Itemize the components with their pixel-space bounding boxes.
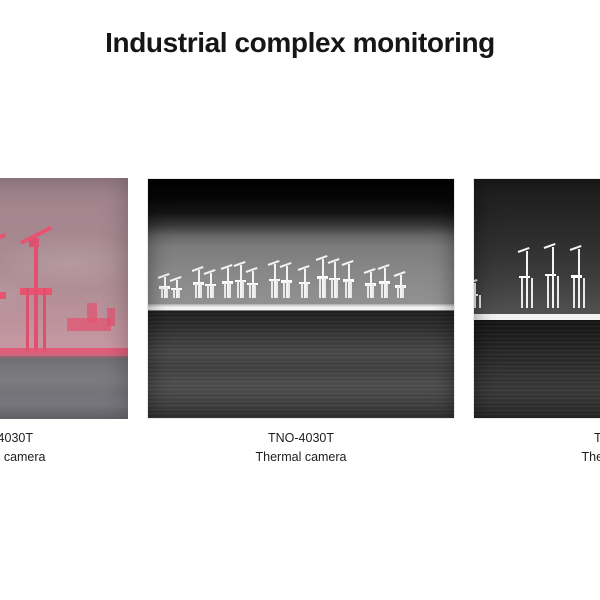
carousel-slide-left[interactable] [0,178,128,419]
dock-structure [87,303,97,323]
page-root: Industrial complex monitoring [0,0,600,600]
page-title: Industrial complex monitoring [0,26,600,60]
crane-skyline [148,263,454,308]
caption-kind: Thermal camera [175,448,427,467]
dock-line [148,307,454,310]
port-crane [23,238,49,351]
carousel-slide-center[interactable] [147,178,455,419]
sea-region [148,309,454,418]
dock-line [0,348,128,358]
sea-region [474,318,600,418]
slide-caption-left: TNO-4030T Thermal camera [0,429,126,467]
slide-caption-right: TNO-4030T Thermal camera [501,429,600,467]
image-carousel[interactable] [0,178,600,419]
dock-line [474,314,600,320]
sea-region [0,356,128,419]
crane-skyline [474,251,600,318]
caption-model: TNO-4030T [501,429,600,448]
port-crane [0,246,3,352]
thermal-photo-pink [0,178,128,419]
carousel-slide-right[interactable] [473,178,600,419]
thermal-photo-right [474,179,600,418]
caption-model: TNO-4030T [0,429,126,448]
dock-structure [107,308,115,326]
caption-model: TNO-4030T [175,429,427,448]
caption-kind: Thermal camera [501,448,600,467]
slide-caption-center: TNO-4030T Thermal camera [175,429,427,467]
caption-kind: Thermal camera [0,448,126,467]
thermal-photo-center [148,179,454,418]
